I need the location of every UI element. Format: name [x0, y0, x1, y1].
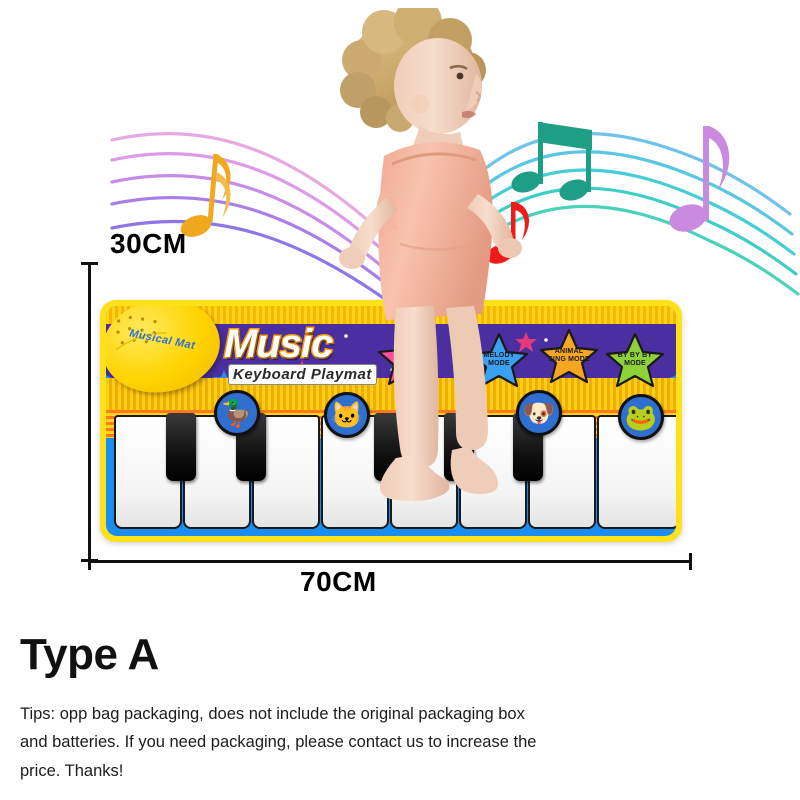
product-type-title: Type A: [20, 630, 159, 680]
dog-icon: 🐶: [523, 400, 555, 426]
product-image: 30CM 70CM Music: [0, 0, 800, 800]
piano-black-key[interactable]: [166, 413, 196, 481]
width-dimension-line: [88, 560, 692, 563]
animal-button-duck[interactable]: 🦆: [214, 390, 260, 436]
mode-label: ANIMAL SING MODE: [547, 348, 591, 364]
mode-button-by-by-by[interactable]: BY BY BY MODE: [606, 332, 664, 388]
piano-black-key[interactable]: [374, 413, 404, 481]
music-logo: Music: [224, 324, 332, 364]
left-arm: [339, 198, 398, 269]
head: [394, 38, 482, 134]
height-dimension-line: [88, 262, 91, 562]
torso: [376, 126, 492, 320]
animal-button-frog[interactable]: 🐸: [618, 394, 664, 440]
staff-left: [112, 134, 408, 316]
note-teal: [509, 122, 592, 204]
musical-staff-decoration: [0, 0, 800, 320]
mode-label: BY BY BY MODE: [613, 352, 657, 368]
animal-button-cat[interactable]: 🐱: [324, 392, 370, 438]
piano-black-key[interactable]: [444, 413, 474, 481]
mode-button-animal-sing[interactable]: ANIMAL SING MODE: [540, 328, 598, 384]
mode-label: MELODY MODE: [477, 352, 521, 368]
star-icon: [378, 330, 436, 386]
keyboard-playmat-sublabel: Keyboard Playmat: [228, 364, 377, 385]
right-arm: [467, 194, 522, 258]
staff-right: [452, 133, 798, 294]
musical-playmat: Music Keyboard Playmat Musical Mat: [100, 300, 682, 542]
mode-button-melody[interactable]: MELODY MODE: [470, 332, 528, 388]
hair: [340, 8, 486, 132]
note-purple: [666, 126, 729, 236]
mode-button-pink-star[interactable]: [378, 330, 436, 386]
width-dimension-label: 70CM: [300, 566, 377, 598]
animal-button-dog[interactable]: 🐶: [516, 390, 562, 436]
duck-icon: 🦆: [221, 400, 253, 426]
note-red: [484, 202, 529, 267]
frog-icon: 🐸: [625, 404, 657, 430]
piano-keyboard: [114, 415, 668, 529]
height-dimension-label: 30CM: [110, 228, 187, 260]
packaging-tips-text: Tips: opp bag packaging, does not includ…: [20, 700, 540, 785]
playmat-surface: Music Keyboard Playmat Musical Mat: [106, 306, 676, 536]
cat-icon: 🐱: [331, 402, 363, 428]
